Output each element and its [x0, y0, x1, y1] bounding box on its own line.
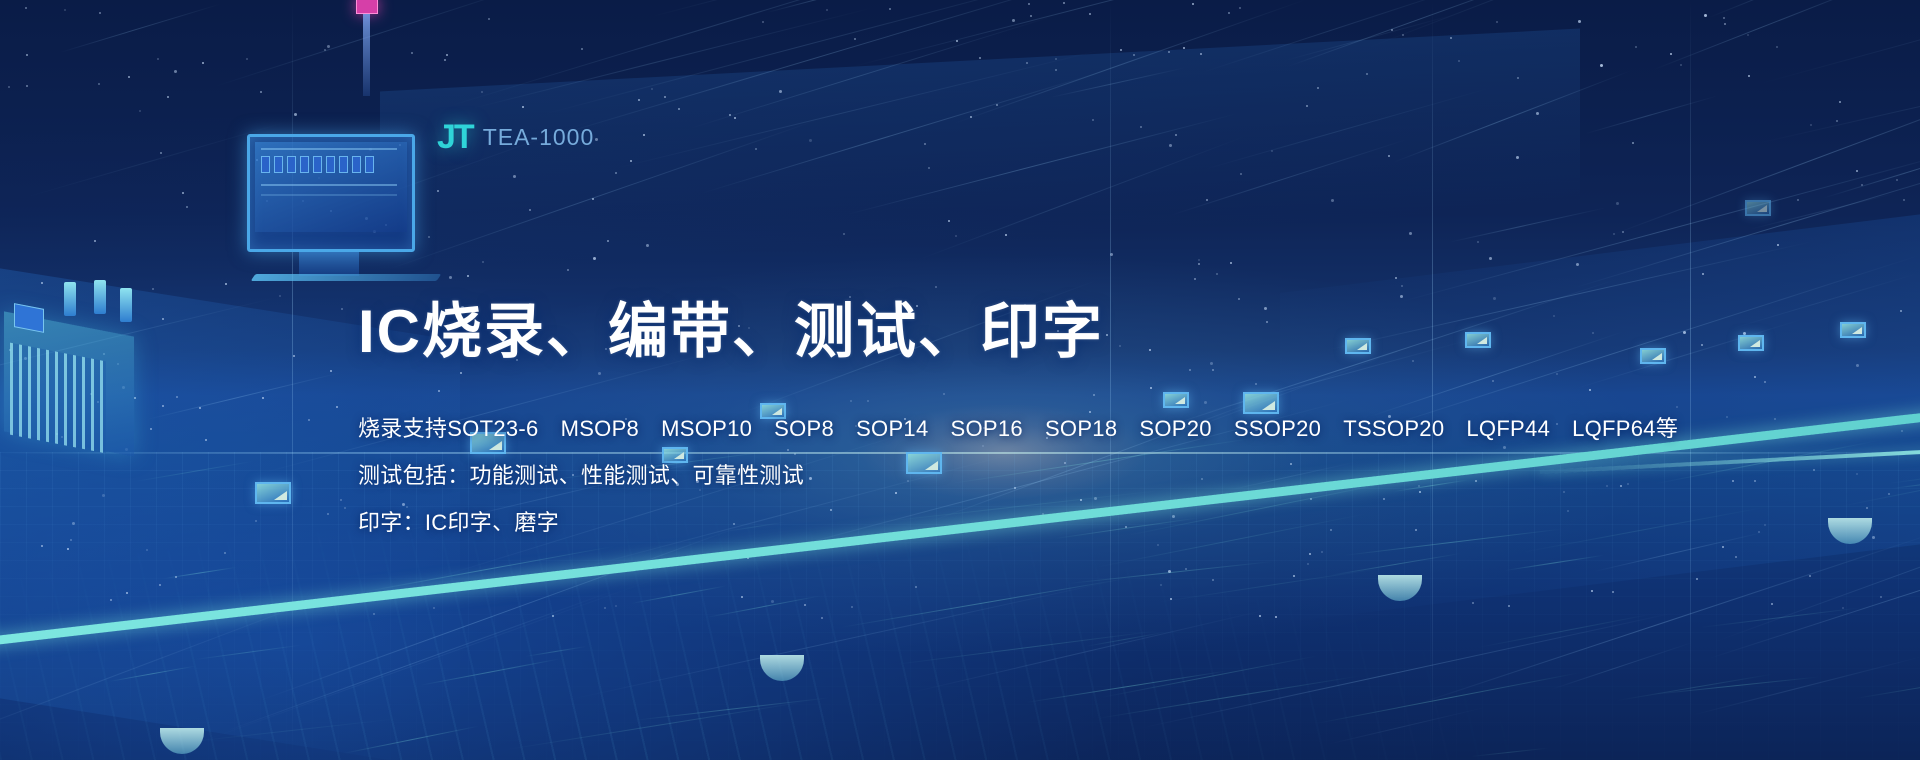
screen-chip-row [261, 156, 374, 173]
handler-machine-illustration [0, 278, 150, 468]
machine-probe-2 [94, 280, 106, 314]
line-marking-scope: 印字：IC印字、磨字 [358, 499, 1578, 546]
crt-monitor-illustration [247, 134, 415, 252]
monitor-base-plate [251, 274, 442, 281]
pkg-tssop20: TSSOP20 [1343, 416, 1444, 441]
model-number: TEA-1000 [483, 124, 595, 151]
screen-bar-mid2 [261, 194, 397, 196]
screen-bar-mid [261, 184, 397, 186]
jt-logo: JT [437, 118, 473, 157]
feature-lines: 烧录支持SOT23-6MSOP8MSOP10SOP8SOP14SOP16SOP1… [358, 405, 1578, 546]
pkg-sop16: SOP16 [951, 416, 1023, 441]
banner-content: IC烧录、编带、测试、印字 烧录支持SOT23-6MSOP8MSOP10SOP8… [358, 300, 1578, 546]
machine-fins [10, 343, 106, 454]
pkg-sop20: SOP20 [1139, 416, 1211, 441]
brand-lockup: JT TEA-1000 [437, 118, 594, 157]
pkg-msop10: MSOP10 [661, 416, 752, 441]
line-burn-support: 烧录支持SOT23-6MSOP8MSOP10SOP8SOP14SOP16SOP1… [358, 405, 1578, 452]
floating-screen-icon-1 [255, 482, 291, 504]
floating-screen-icon-12 [1840, 322, 1866, 338]
pkg-lqfp64: LQFP64等 [1572, 416, 1678, 441]
machine-probe-3 [120, 288, 132, 322]
pkg-sop18: SOP18 [1045, 416, 1117, 441]
monitor-stand [299, 252, 359, 276]
pkg-sop8: SOP8 [774, 416, 834, 441]
machine-probe-1 [64, 282, 76, 316]
pkg-sop14: SOP14 [856, 416, 928, 441]
magenta-probe-tip-icon [356, 0, 378, 14]
floating-screen-icon-13 [1745, 200, 1771, 216]
page-title: IC烧录、编带、测试、印字 [358, 300, 1578, 363]
probe-stem [363, 14, 370, 96]
pkg-ssop20: SSOP20 [1234, 416, 1321, 441]
monitor-screen [255, 142, 407, 232]
ic-service-banner: JT TEA-1000 IC烧录、编带、测试、印字 烧录支持SOT23-6MSO… [0, 0, 1920, 760]
screen-bar-top [261, 148, 397, 150]
line-test-scope: 测试包括：功能测试、性能测试、可靠性测试 [358, 452, 1578, 499]
floating-screen-icon-11 [1738, 335, 1764, 351]
pkg-lqfp44: LQFP44 [1466, 416, 1550, 441]
floating-screen-icon-10 [1640, 348, 1666, 364]
pkg-msop8: MSOP8 [561, 416, 640, 441]
burn-prefix: 烧录支持SOT23-6 [358, 416, 539, 441]
